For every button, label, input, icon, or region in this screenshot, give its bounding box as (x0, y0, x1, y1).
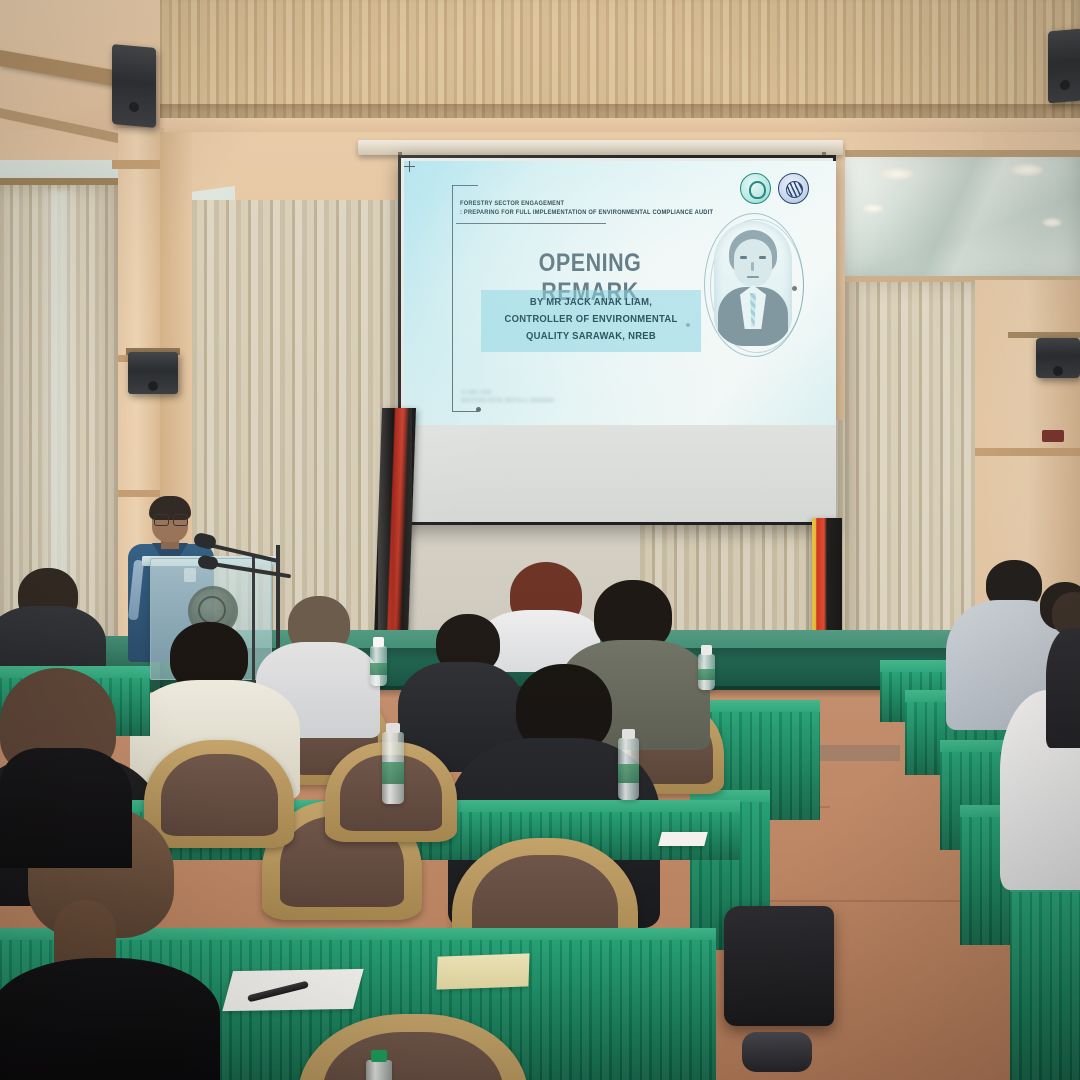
screen-blank-area (404, 425, 836, 522)
microphone-pole-2 (252, 556, 255, 686)
portrait-nose (751, 262, 754, 271)
cream-note-card (436, 953, 529, 989)
ceiling-light (1010, 164, 1044, 176)
crest-inner-ring (198, 596, 226, 624)
ceiling-band (150, 118, 1080, 132)
pilaster-band-bottom (118, 490, 164, 497)
curtain-right (845, 282, 985, 654)
slide-subtitle-line-1: BY MR JACK ANAK LIAM, (492, 294, 690, 311)
glass-frame-top (845, 150, 1080, 157)
slide-frame-vertical (452, 185, 453, 411)
slide-footer: 12 MAC 2025 WESTERN HOTEL BINTULU, SARAW… (461, 389, 621, 405)
presentation-slide: FORESTRY SECTOR ENGAGEMENT : PREPARING F… (404, 161, 836, 425)
presenter-glasses-right (173, 514, 188, 526)
ceiling-light (880, 168, 914, 180)
water-bottle (366, 1060, 392, 1080)
portrait-eye-right (759, 256, 766, 259)
slide-dot-marker (476, 407, 481, 412)
table-row (1010, 880, 1080, 1080)
slide-frame-bottom (452, 411, 478, 412)
slide-frame-top (452, 185, 478, 186)
ceiling-speaker-top-left (112, 44, 156, 128)
portrait-eye-left (740, 256, 747, 259)
slide-subtitle: BY MR JACK ANAK LIAM, CONTROLLER OF ENVI… (492, 294, 690, 345)
chair (298, 1014, 528, 1080)
ceiling-light (1042, 218, 1062, 227)
banner-left-fold (378, 408, 412, 640)
slide-subtitle-line-2: CONTROLLER OF ENVIRONMENTAL (492, 311, 690, 328)
presenter-glasses-left (154, 514, 169, 526)
banner-right (812, 518, 842, 643)
wall-speaker-right (1036, 338, 1080, 378)
slide-header-rule (456, 223, 606, 224)
portrait-mouth (747, 276, 759, 278)
floor-bag (724, 906, 834, 1026)
wall-ledge-right (975, 448, 1080, 456)
ceiling-speaker-top-right (1048, 29, 1080, 104)
wall-right-block (975, 280, 1080, 610)
water-bottle (382, 732, 404, 804)
slide-footer-line-2: WESTERN HOTEL BINTULU, SARAWAK (461, 397, 621, 405)
slide-subtitle-line-3: QUALITY SARAWAK, NREB (492, 328, 690, 345)
sarawak-agency-logo (778, 173, 809, 204)
wall-plate (1042, 430, 1064, 442)
foreground-person-shoulder (0, 748, 132, 868)
slide-header: FORESTRY SECTOR ENGAGEMENT : PREPARING F… (460, 199, 710, 217)
slide-footer-line-1: 12 MAC 2025 (461, 389, 621, 397)
conference-hall-photo: FORESTRY SECTOR ENGAGEMENT : PREPARING F… (0, 0, 1080, 1080)
water-bottle (698, 654, 715, 690)
nreb-emblem-logo (740, 173, 771, 204)
paper-document (658, 832, 707, 846)
glass-reflection (845, 150, 1080, 280)
slide-header-line-2: : PREPARING FOR FULL IMPLEMENTATION OF E… (460, 208, 690, 217)
ceiling-light (862, 204, 884, 213)
water-bottle (618, 738, 639, 800)
projection-screen: FORESTRY SECTOR ENGAGEMENT : PREPARING F… (398, 155, 836, 525)
chair (144, 740, 294, 848)
water-bottle (370, 646, 387, 686)
wall-speaker-left (128, 352, 178, 394)
speaker-portrait-illustration (714, 221, 792, 346)
projection-screen-housing (358, 140, 843, 155)
floor-item (742, 1032, 812, 1072)
slide-header-line-1: FORESTRY SECTOR ENGAGEMENT (460, 199, 690, 208)
